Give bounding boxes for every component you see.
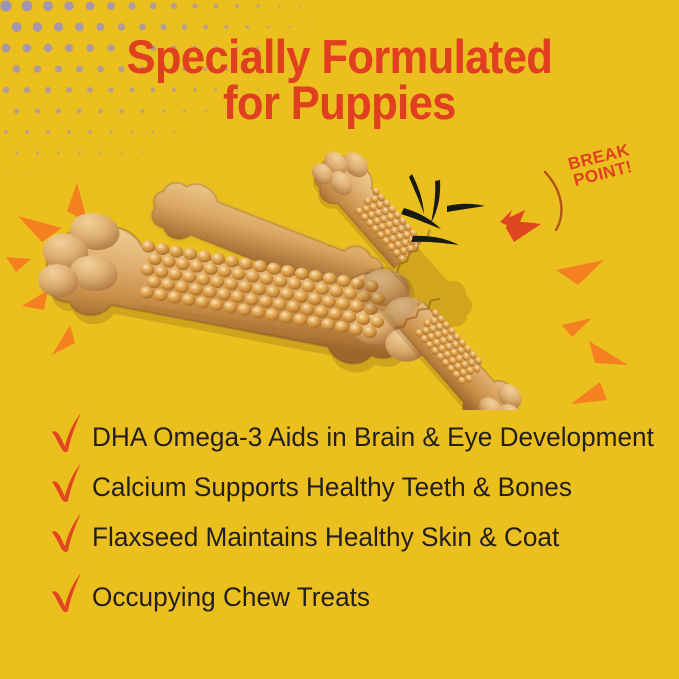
list-item: DHA Omega-3 Aids in Brain & Eye Developm…: [48, 412, 648, 462]
list-item: Occupying Chew Treats: [48, 572, 648, 622]
list-item: Flaxseed Maintains Healthy Skin & Coat: [48, 512, 648, 562]
list-item: Calcium Supports Healthy Teeth & Bones: [48, 462, 648, 512]
checkmark-icon: [48, 410, 88, 454]
feature-bullet-list: DHA Omega-3 Aids in Brain & Eye Developm…: [48, 412, 648, 622]
checkmark-icon: [48, 460, 88, 504]
list-item-label: Occupying Chew Treats: [92, 584, 370, 611]
checkmark-icon: [48, 570, 88, 614]
product-feature-poster: Specially Formulated for Puppies: [0, 0, 679, 679]
headline-line-1: Specially Formulated: [27, 34, 652, 80]
list-item-label: Calcium Supports Healthy Teeth & Bones: [92, 474, 572, 501]
checkmark-icon: [48, 510, 88, 554]
page-title: Specially Formulated for Puppies: [27, 34, 652, 126]
headline-line-2: for Puppies: [27, 80, 652, 126]
spark-burst-right: [556, 260, 628, 404]
list-item-label: Flaxseed Maintains Healthy Skin & Coat: [92, 524, 559, 551]
list-item-label: DHA Omega-3 Aids in Brain & Eye Developm…: [92, 424, 654, 451]
